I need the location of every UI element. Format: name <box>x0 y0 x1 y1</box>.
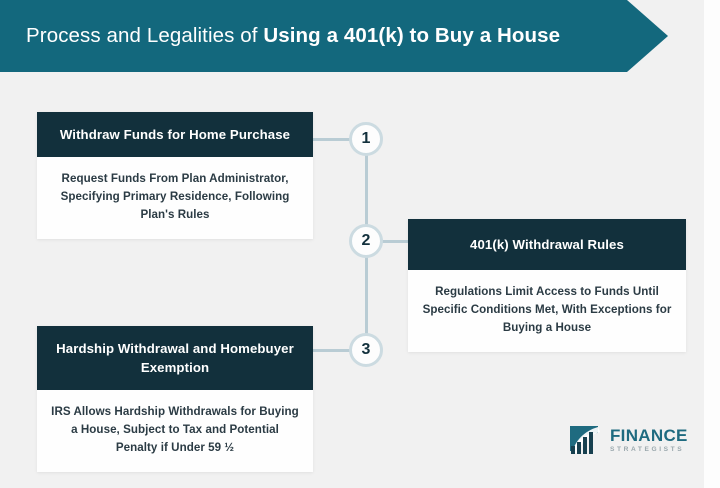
logo-subtitle: STRATEGISTS <box>610 447 688 454</box>
connector-stub-step-2 <box>379 240 409 243</box>
page-title-regular: Process and Legalities of <box>26 24 263 47</box>
step-number-3: 3 <box>349 333 383 367</box>
step-card-1-heading: Withdraw Funds for Home Purchase <box>37 112 313 157</box>
step-number-1: 1 <box>349 122 383 156</box>
step-card-3: Hardship Withdrawal and Homebuyer Exempt… <box>37 326 313 472</box>
step-card-1-body: Request Funds From Plan Administrator, S… <box>37 157 313 239</box>
page-title: Process and Legalities of Using a 401(k)… <box>0 24 560 49</box>
step-number-2: 2 <box>349 224 383 258</box>
step-card-2-heading: 401(k) Withdrawal Rules <box>408 219 686 270</box>
page-title-bold: Using a 401(k) to Buy a House <box>263 24 560 47</box>
bar-chart-arrow-icon <box>568 424 604 456</box>
header-banner: Process and Legalities of Using a 401(k)… <box>0 0 668 72</box>
brand-logo: FINANCE STRATEGISTS <box>568 424 688 456</box>
step-card-3-body: IRS Allows Hardship Withdrawals for Buyi… <box>37 390 313 472</box>
infographic-canvas: Process and Legalities of Using a 401(k)… <box>0 0 720 488</box>
step-card-2-body: Regulations Limit Access to Funds Until … <box>408 270 686 352</box>
logo-name: FINANCE <box>610 427 688 444</box>
step-card-3-heading: Hardship Withdrawal and Homebuyer Exempt… <box>37 326 313 390</box>
right-edge-strip <box>704 0 720 488</box>
logo-text-block: FINANCE STRATEGISTS <box>610 427 688 454</box>
connector-stub-step-3 <box>313 349 353 352</box>
step-card-2: 401(k) Withdrawal Rules Regulations Limi… <box>408 219 686 352</box>
connector-stub-step-1 <box>313 138 353 141</box>
step-card-1: Withdraw Funds for Home Purchase Request… <box>37 112 313 239</box>
